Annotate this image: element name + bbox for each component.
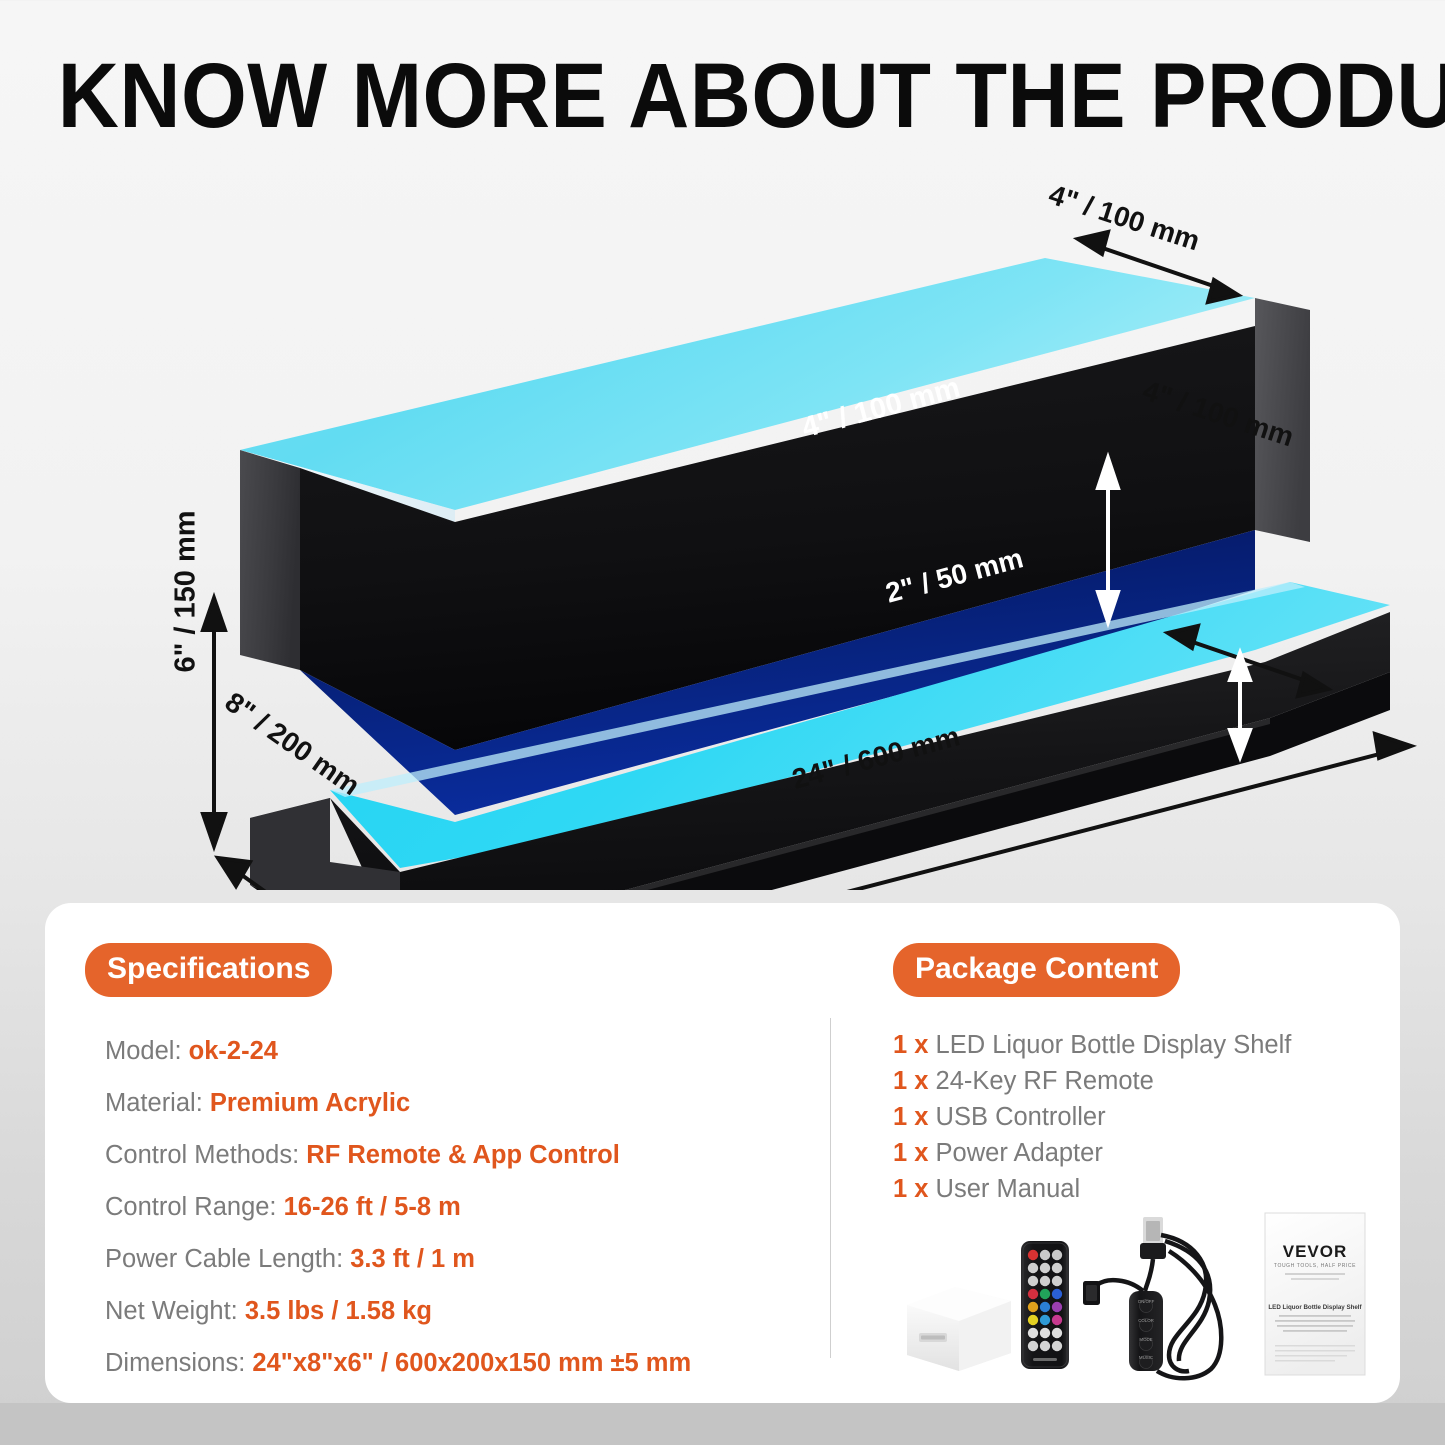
spec-label: Dimensions: — [105, 1349, 245, 1377]
spec-label: Net Weight: — [105, 1297, 238, 1325]
spec-label: Material: — [105, 1089, 203, 1117]
item-name: User Manual — [936, 1175, 1081, 1203]
specifications-section: Specifications Model: ok-2-24 Material: … — [85, 943, 805, 1389]
package-content-section: Package Content 1 x LED Liquor Bottle Di… — [893, 943, 1393, 1207]
spec-value: 3.3 ft / 1 m — [350, 1245, 475, 1273]
list-item: 1 x Power Adapter — [893, 1135, 1393, 1171]
user-manual-illustration: VEVOR TOUGH TOOLS, HALF PRICE LED Liquor… — [1265, 1213, 1365, 1375]
spec-value: RF Remote & App Control — [306, 1141, 620, 1169]
item-name: LED Liquor Bottle Display Shelf — [936, 1031, 1292, 1059]
spec-value: 16-26 ft / 5-8 m — [284, 1193, 461, 1221]
svg-text:VEVOR: VEVOR — [1283, 1242, 1348, 1261]
list-item: 1 x User Manual — [893, 1171, 1393, 1207]
usb-controller-illustration: ON/OFF COLOR MODE MUSIC — [1083, 1217, 1221, 1378]
list-item: 1 x LED Liquor Bottle Display Shelf — [893, 1027, 1393, 1063]
spec-row: Model: ok-2-24 — [105, 1025, 805, 1077]
spec-value: 3.5 lbs / 1.58 kg — [245, 1297, 432, 1325]
spec-row: Control Range: 16-26 ft / 5-8 m — [105, 1181, 805, 1233]
power-adapter-illustration — [907, 1287, 1011, 1371]
item-qty: 1 x — [893, 1067, 928, 1095]
svg-text:ON/OFF: ON/OFF — [1138, 1299, 1155, 1304]
column-divider — [830, 1018, 831, 1358]
item-name: USB Controller — [936, 1103, 1106, 1131]
svg-text:MODE: MODE — [1139, 1337, 1152, 1342]
accessories-illustration: ON/OFF COLOR MODE MUSIC VEVOR TOUGH TOOL… — [893, 1205, 1383, 1390]
spec-label: Power Cable Length: — [105, 1245, 350, 1273]
package-content-badge: Package Content — [893, 943, 1180, 997]
spec-label: Control Range: — [105, 1193, 277, 1221]
spec-row: Dimensions: 24"x8"x6" / 600x200x150 mm ±… — [105, 1337, 805, 1389]
svg-text:MUSIC: MUSIC — [1139, 1355, 1153, 1360]
spec-row: Power Cable Length: 3.3 ft / 1 m — [105, 1233, 805, 1285]
list-item: 1 x 24-Key RF Remote — [893, 1063, 1393, 1099]
spec-value: ok-2-24 — [189, 1037, 278, 1065]
package-content-list: 1 x LED Liquor Bottle Display Shelf 1 x … — [893, 1027, 1393, 1207]
spec-row: Net Weight: 3.5 lbs / 1.58 kg — [105, 1285, 805, 1337]
product-dimension-diagram: 4" / 100 mm 4" / 100 mm 4" / 100 mm 2" /… — [0, 150, 1445, 890]
svg-text:TOUGH TOOLS, HALF PRICE: TOUGH TOOLS, HALF PRICE — [1274, 1263, 1356, 1269]
page-title: KNOW MORE ABOUT THE PRODUCT — [58, 44, 1387, 148]
specifications-badge: Specifications — [85, 943, 332, 997]
svg-text:COLOR: COLOR — [1138, 1318, 1154, 1323]
item-qty: 1 x — [893, 1175, 928, 1203]
spec-value: Premium Acrylic — [210, 1089, 410, 1117]
specifications-list: Model: ok-2-24 Material: Premium Acrylic… — [85, 1025, 805, 1389]
svg-text:LED Liquor Bottle Display Shel: LED Liquor Bottle Display Shelf — [1268, 1304, 1362, 1311]
spec-row: Control Methods: RF Remote & App Control — [105, 1129, 805, 1181]
rf-remote-illustration — [1021, 1241, 1069, 1369]
item-name: 24-Key RF Remote — [936, 1067, 1154, 1095]
bottom-gray-band — [0, 1403, 1445, 1445]
item-qty: 1 x — [893, 1103, 928, 1131]
spec-value: 24"x8"x6" / 600x200x150 mm ±5 mm — [252, 1349, 691, 1377]
item-qty: 1 x — [893, 1139, 928, 1167]
spec-row: Material: Premium Acrylic — [105, 1077, 805, 1129]
spec-label: Control Methods: — [105, 1141, 299, 1169]
item-name: Power Adapter — [936, 1139, 1103, 1167]
list-item: 1 x USB Controller — [893, 1099, 1393, 1135]
item-qty: 1 x — [893, 1031, 928, 1059]
spec-label: Model: — [105, 1037, 182, 1065]
